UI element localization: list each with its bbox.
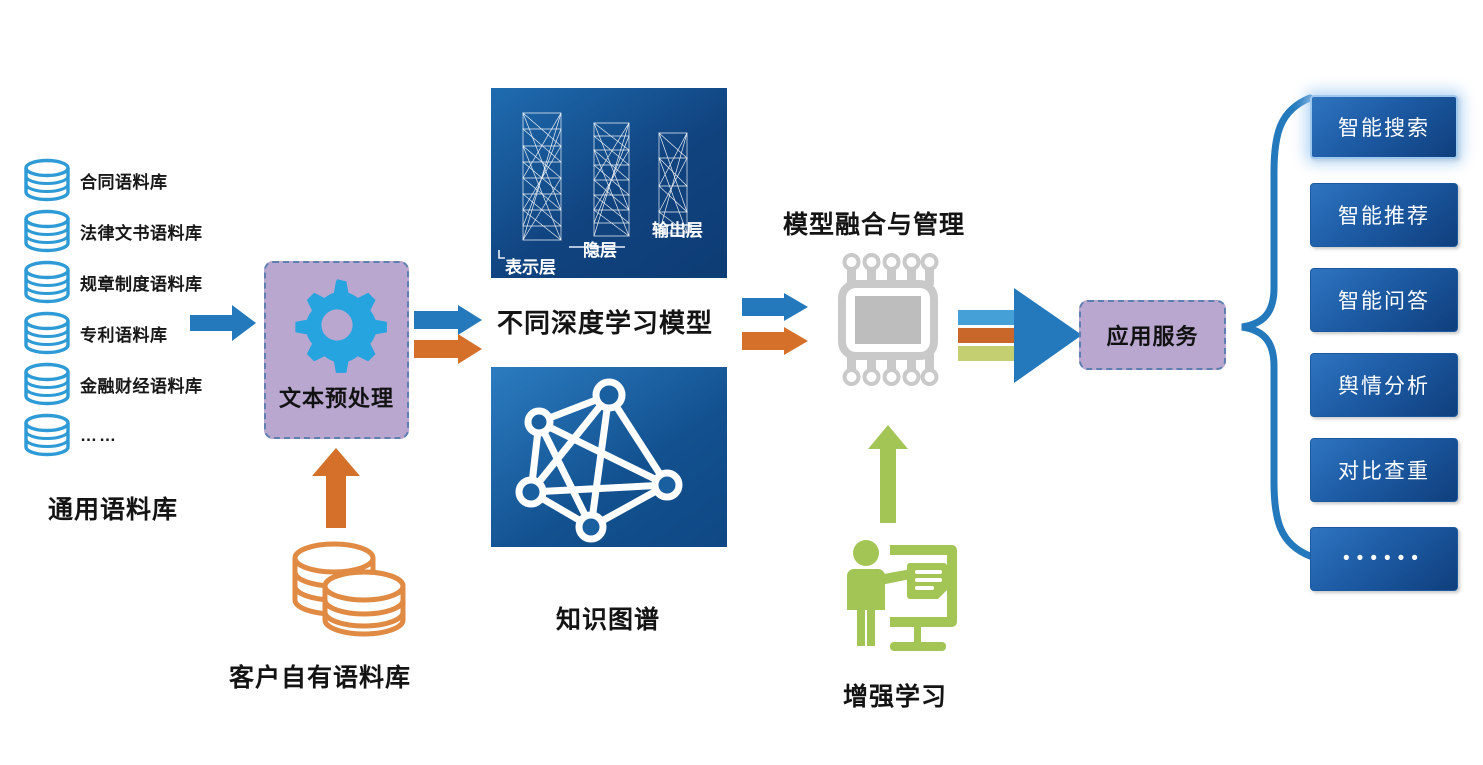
app-button-intelligent-search[interactable]: 智能搜索	[1310, 95, 1458, 159]
knowledge-graph-panel	[491, 367, 727, 547]
nn-layer-label-representation: 表示层	[505, 253, 556, 278]
app-button-label: 对比查重	[1338, 455, 1430, 485]
app-button-comparison-dedup[interactable]: 对比查重	[1310, 438, 1458, 502]
list-item-label: 规章制度语料库	[80, 270, 203, 295]
reinforcement-learning-caption: 增强学习	[843, 677, 947, 713]
nn-layer-label-hidden: 隐层	[583, 236, 617, 261]
app-button-intelligent-qa[interactable]: 智能问答	[1310, 268, 1458, 332]
general-corpus-caption: 通用语料库	[48, 490, 178, 526]
list-item-label: 法律文书语料库	[80, 219, 203, 244]
app-button-sentiment-analysis[interactable]: 舆情分析	[1310, 353, 1458, 417]
neural-network-panel: 表示层 隐层 输出层	[491, 88, 727, 278]
database-cylinder-icon	[22, 311, 72, 357]
arrow-models-to-fusion-orange	[742, 327, 810, 355]
app-service-box[interactable]: 应用服务	[1079, 300, 1226, 370]
app-button-label: 智能搜索	[1338, 112, 1430, 142]
list-item-label: 专利语料库	[80, 321, 168, 346]
list-item[interactable]: 金融财经语料库	[22, 359, 262, 410]
arrow-preprocess-to-models-blue	[414, 305, 484, 335]
list-item-label: 金融财经语料库	[80, 372, 203, 397]
app-button-more[interactable]: ••••••	[1310, 527, 1458, 591]
list-item-label: 合同语料库	[80, 168, 168, 193]
app-button-label: 智能推荐	[1338, 200, 1430, 230]
curly-brace	[1236, 92, 1316, 562]
gear-icon	[283, 273, 391, 377]
customer-corpus-caption: 客户自有语料库	[229, 658, 411, 694]
knowledge-graph-caption: 知识图谱	[556, 600, 660, 636]
app-button-label: 智能问答	[1338, 285, 1430, 315]
person-presenting-icon	[838, 535, 963, 660]
arrow-to-app-service	[1014, 288, 1084, 383]
app-button-intelligent-recommendation[interactable]: 智能推荐	[1310, 183, 1458, 247]
list-item-label: ……	[80, 426, 118, 446]
model-fusion-caption: 模型融合与管理	[783, 205, 965, 241]
list-item[interactable]: 规章制度语料库	[22, 257, 262, 308]
database-cylinder-icon	[22, 260, 72, 306]
arrow-preprocess-to-models-orange	[414, 334, 484, 364]
text-preprocess-label: 文本预处理	[279, 381, 394, 413]
database-cylinder-icon	[22, 362, 72, 408]
list-item[interactable]: ……	[22, 410, 262, 461]
deep-learning-caption: 不同深度学习模型	[497, 303, 713, 340]
tri-color-bars	[958, 310, 1020, 362]
app-service-label: 应用服务	[1106, 319, 1198, 351]
nn-layer-label-output: 输出层	[652, 216, 703, 241]
list-item[interactable]: 法律文书语料库	[22, 206, 262, 257]
database-cylinder-icon	[22, 413, 72, 459]
arrow-models-to-fusion-blue	[742, 293, 810, 321]
app-button-label: 舆情分析	[1338, 370, 1430, 400]
stacked-database-icon	[286, 538, 411, 643]
database-cylinder-icon	[22, 158, 72, 204]
arrow-reinforcement-to-fusion	[866, 425, 910, 525]
database-cylinder-icon	[22, 209, 72, 255]
list-item[interactable]: 合同语料库	[22, 155, 262, 206]
cpu-chip-icon	[830, 252, 945, 387]
text-preprocess-box[interactable]: 文本预处理	[264, 261, 409, 439]
arrow-customer-to-preprocess	[308, 448, 364, 530]
arrow-corpus-to-preprocess	[190, 303, 258, 343]
app-button-label: ••••••	[1343, 548, 1425, 570]
